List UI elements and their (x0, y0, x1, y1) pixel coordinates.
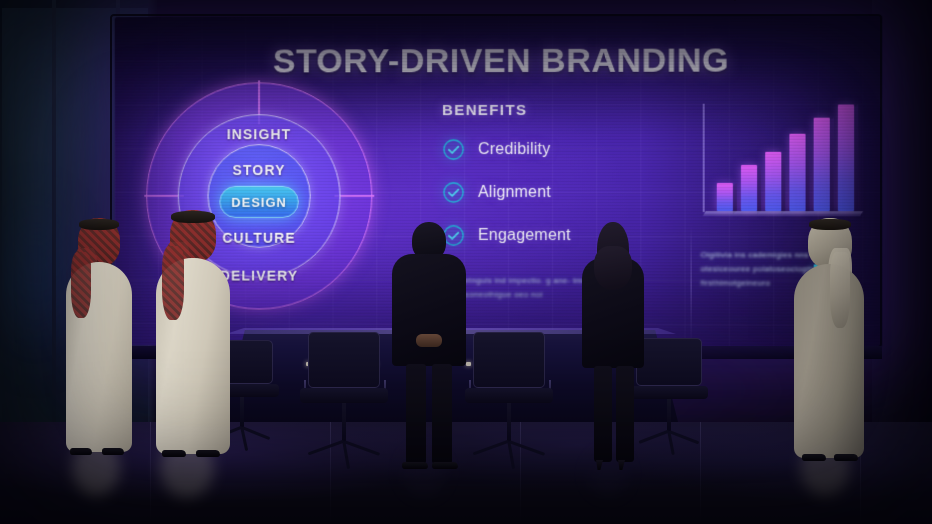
presenter-suit (392, 222, 466, 472)
window-mullion (52, 0, 56, 470)
suit-jacket (392, 254, 466, 366)
agal (809, 219, 851, 230)
thobe (794, 264, 864, 458)
shoe (834, 454, 858, 461)
trouser-leg (616, 366, 634, 462)
clasped-hands (416, 334, 442, 347)
trouser-leg (406, 364, 426, 464)
shoe (196, 450, 220, 457)
shoe (102, 448, 124, 455)
agal (79, 219, 119, 230)
attendee-left-thobe (62, 218, 136, 460)
heel-shoe (596, 460, 603, 470)
boardroom-scene: STORY-DRIVEN BRANDING INSIGHT STORY CULT… (0, 0, 932, 524)
shoe (802, 454, 826, 461)
shoe (432, 462, 458, 469)
shoe (402, 462, 428, 469)
keffiyeh-drape (830, 252, 850, 328)
table-light (466, 362, 471, 366)
keffiyeh-drape (71, 252, 91, 318)
trouser-leg (594, 366, 612, 462)
trouser-leg (432, 364, 452, 464)
shoe (70, 448, 92, 455)
shoe (162, 450, 186, 457)
attendee-second-thobe (152, 210, 236, 462)
attendee-right-thobe (790, 218, 870, 466)
keffiyeh-drape (162, 246, 184, 320)
agal (171, 211, 215, 223)
hair-back (594, 246, 632, 290)
attendee-woman (580, 222, 646, 472)
heel-shoe (618, 460, 625, 470)
